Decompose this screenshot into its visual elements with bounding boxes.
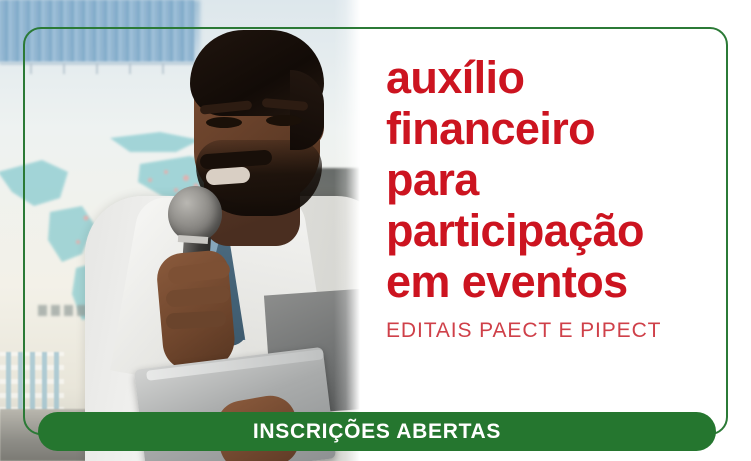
event-banner: auxílio financeiro para participação em … bbox=[0, 0, 751, 461]
speaker-figure bbox=[0, 0, 360, 461]
registration-open-label: INSCRIÇÕES ABERTAS bbox=[253, 420, 501, 444]
subtitle: EDITAIS PAECT E PIPECT bbox=[386, 319, 726, 343]
headline-block: auxílio financeiro para participação em … bbox=[386, 52, 726, 343]
finger-3 bbox=[166, 310, 227, 329]
headline-line-3: para bbox=[386, 154, 726, 205]
photo-fade-gradient bbox=[334, 0, 360, 461]
headline-line-5: em eventos bbox=[386, 256, 726, 307]
eye-right bbox=[266, 115, 302, 126]
microphone-head bbox=[168, 186, 222, 242]
headline-line-1: auxílio bbox=[386, 52, 726, 103]
mouth bbox=[205, 166, 250, 185]
eye-left bbox=[206, 117, 242, 128]
speaker-photo bbox=[0, 0, 360, 461]
headline-line-4: participação bbox=[386, 205, 726, 256]
registration-open-banner[interactable]: INSCRIÇÕES ABERTAS bbox=[38, 412, 716, 451]
headline-line-2: financeiro bbox=[386, 103, 726, 154]
headline: auxílio financeiro para participação em … bbox=[386, 52, 726, 307]
